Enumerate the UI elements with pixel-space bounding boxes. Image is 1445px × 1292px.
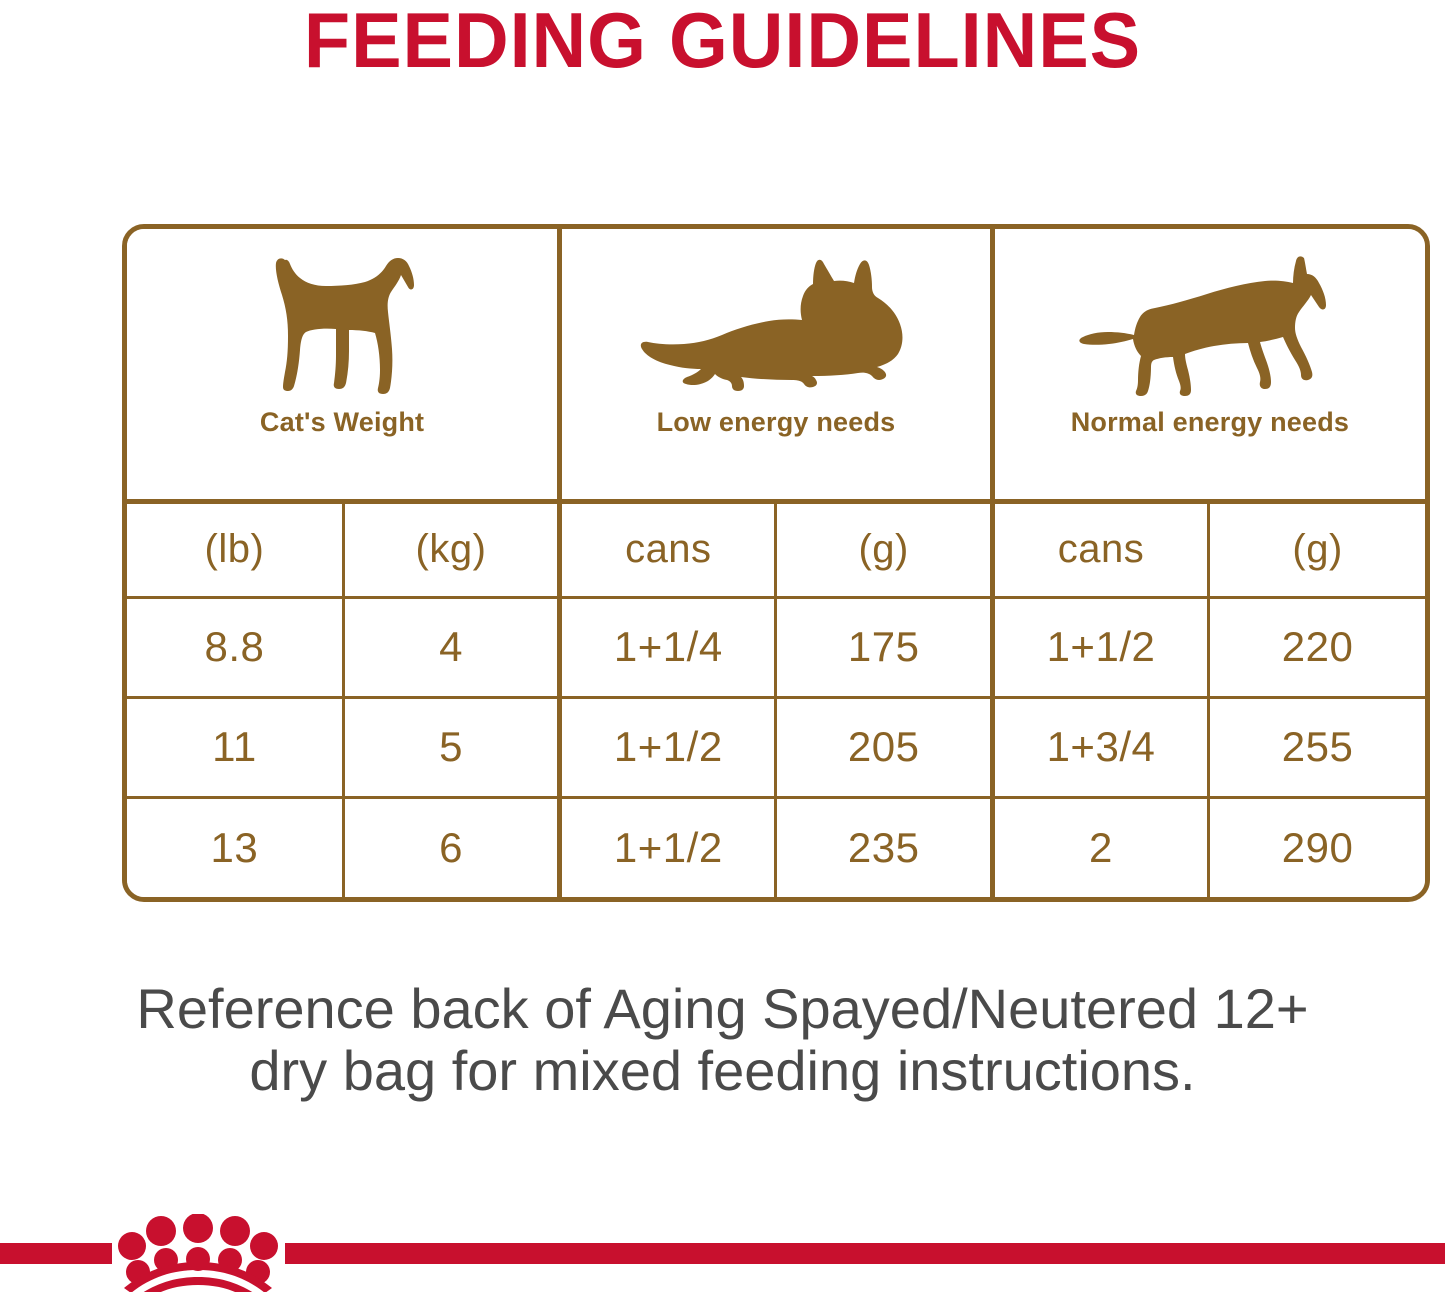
header-label-cats-weight: Cat's Weight — [260, 407, 424, 438]
unit-cell-kg: (kg) — [343, 501, 559, 597]
brand-rule-left — [0, 1243, 112, 1264]
feeding-guidelines-page: FEEDING GUIDELINES Cat's Weight — [0, 0, 1445, 1292]
cell-normal-g: 255 — [1209, 697, 1425, 797]
cell-low-g: 205 — [776, 697, 992, 797]
table-row: 13 6 1+1/2 235 2 290 — [127, 797, 1425, 897]
unit-cell-normal-g: (g) — [1209, 501, 1425, 597]
royal-canin-crown-logo-icon — [108, 1214, 288, 1292]
cell-weight-lb: 11 — [127, 697, 343, 797]
unit-cell-normal-cans: cans — [992, 501, 1208, 597]
cell-normal-g: 290 — [1209, 797, 1425, 897]
brand-rule-right — [285, 1243, 1445, 1264]
cell-weight-kg: 4 — [343, 597, 559, 697]
brand-bar — [0, 1243, 1445, 1292]
cell-weight-kg: 6 — [343, 797, 559, 897]
footer-note-line-2: dry bag for mixed feeding instructions. — [0, 1040, 1445, 1102]
feeding-table-container: Cat's Weight Low energy needs — [122, 224, 1430, 902]
cell-normal-g: 220 — [1209, 597, 1425, 697]
footer-note-line-1: Reference back of Aging Spayed/Neutered … — [0, 978, 1445, 1040]
standing-cat-icon — [262, 245, 422, 405]
unit-cell-lb: (lb) — [127, 501, 343, 597]
header-group-low-energy: Low energy needs — [560, 229, 993, 501]
table-header-row: Cat's Weight Low energy needs — [127, 229, 1425, 501]
cell-weight-lb: 13 — [127, 797, 343, 897]
header-label-normal-energy: Normal energy needs — [1071, 407, 1349, 438]
table-units-row: (lb) (kg) cans (g) cans (g) — [127, 501, 1425, 597]
cell-low-g: 175 — [776, 597, 992, 697]
walking-cat-icon — [1060, 245, 1360, 405]
cell-normal-cans: 1+1/2 — [992, 597, 1208, 697]
cell-low-cans: 1+1/2 — [560, 797, 776, 897]
cell-weight-lb: 8.8 — [127, 597, 343, 697]
cell-normal-cans: 2 — [992, 797, 1208, 897]
cell-low-cans: 1+1/4 — [560, 597, 776, 697]
page-title: FEEDING GUIDELINES — [22, 0, 1424, 84]
header-group-cats-weight: Cat's Weight — [127, 229, 560, 501]
cell-low-cans: 1+1/2 — [560, 697, 776, 797]
cell-low-g: 235 — [776, 797, 992, 897]
cell-weight-kg: 5 — [343, 697, 559, 797]
unit-cell-low-cans: cans — [560, 501, 776, 597]
lying-cat-icon — [626, 245, 926, 405]
feeding-table: Cat's Weight Low energy needs — [127, 229, 1425, 897]
footer-note: Reference back of Aging Spayed/Neutered … — [0, 978, 1445, 1102]
cell-normal-cans: 1+3/4 — [992, 697, 1208, 797]
header-label-low-energy: Low energy needs — [657, 407, 896, 438]
table-row: 11 5 1+1/2 205 1+3/4 255 — [127, 697, 1425, 797]
table-row: 8.8 4 1+1/4 175 1+1/2 220 — [127, 597, 1425, 697]
unit-cell-low-g: (g) — [776, 501, 992, 597]
header-group-normal-energy: Normal energy needs — [992, 229, 1425, 501]
